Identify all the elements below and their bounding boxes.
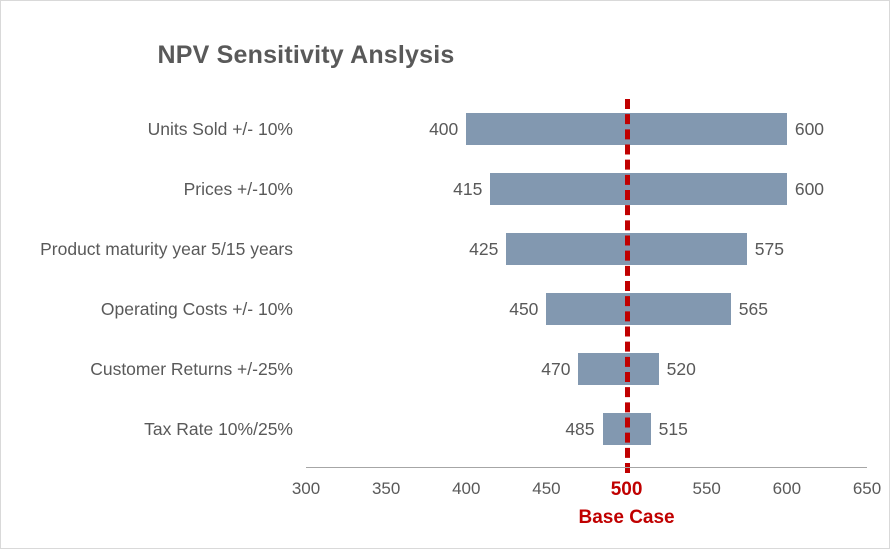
bar-low-value-label: 425 — [301, 219, 498, 279]
plot-area: Units Sold +/- 10%400600Prices +/-10%415… — [1, 1, 890, 549]
bar-high-value-label: 575 — [755, 219, 835, 279]
category-label: Product maturity year 5/15 years — [1, 219, 293, 279]
bar-low-value-label: 470 — [301, 339, 570, 399]
base-case-caption: Base Case — [579, 507, 675, 529]
base-case-line — [625, 99, 630, 473]
x-axis-tick-label: 650 — [853, 479, 881, 499]
x-axis-line — [306, 467, 867, 468]
x-axis-tick-label: 600 — [773, 479, 801, 499]
tornado-row: Units Sold +/- 10%400600 — [1, 99, 890, 159]
tornado-row: Product maturity year 5/15 years425575 — [1, 219, 890, 279]
bar-high-value-label: 600 — [795, 159, 875, 219]
tornado-row: Tax Rate 10%/25%485515 — [1, 399, 890, 459]
x-axis-tick-label: 300 — [292, 479, 320, 499]
tornado-bar[interactable] — [578, 353, 658, 385]
chart-container: NPV Sensitivity Anslysis Units Sold +/- … — [0, 0, 890, 549]
category-label: Units Sold +/- 10% — [1, 99, 293, 159]
x-axis-tick-base-case: 500 — [611, 479, 643, 501]
x-axis-tick-label: 400 — [452, 479, 480, 499]
bar-high-value-label: 600 — [795, 99, 875, 159]
x-axis-tick-label: 550 — [693, 479, 721, 499]
x-axis-tick-label: 350 — [372, 479, 400, 499]
bar-low-value-label: 450 — [301, 279, 538, 339]
bar-low-value-label: 415 — [301, 159, 482, 219]
tornado-row: Prices +/-10%415600 — [1, 159, 890, 219]
category-label: Customer Returns +/-25% — [1, 339, 293, 399]
tornado-bar[interactable] — [546, 293, 730, 325]
bar-low-value-label: 485 — [301, 399, 595, 459]
bar-low-value-label: 400 — [301, 99, 458, 159]
category-label: Tax Rate 10%/25% — [1, 399, 293, 459]
category-label: Operating Costs +/- 10% — [1, 279, 293, 339]
tornado-bar[interactable] — [490, 173, 787, 205]
tornado-row: Customer Returns +/-25%470520 — [1, 339, 890, 399]
bar-high-value-label: 520 — [667, 339, 747, 399]
bar-high-value-label: 515 — [659, 399, 739, 459]
category-label: Prices +/-10% — [1, 159, 293, 219]
tornado-row: Operating Costs +/- 10%450565 — [1, 279, 890, 339]
x-axis-tick-label: 450 — [532, 479, 560, 499]
bar-high-value-label: 565 — [739, 279, 819, 339]
